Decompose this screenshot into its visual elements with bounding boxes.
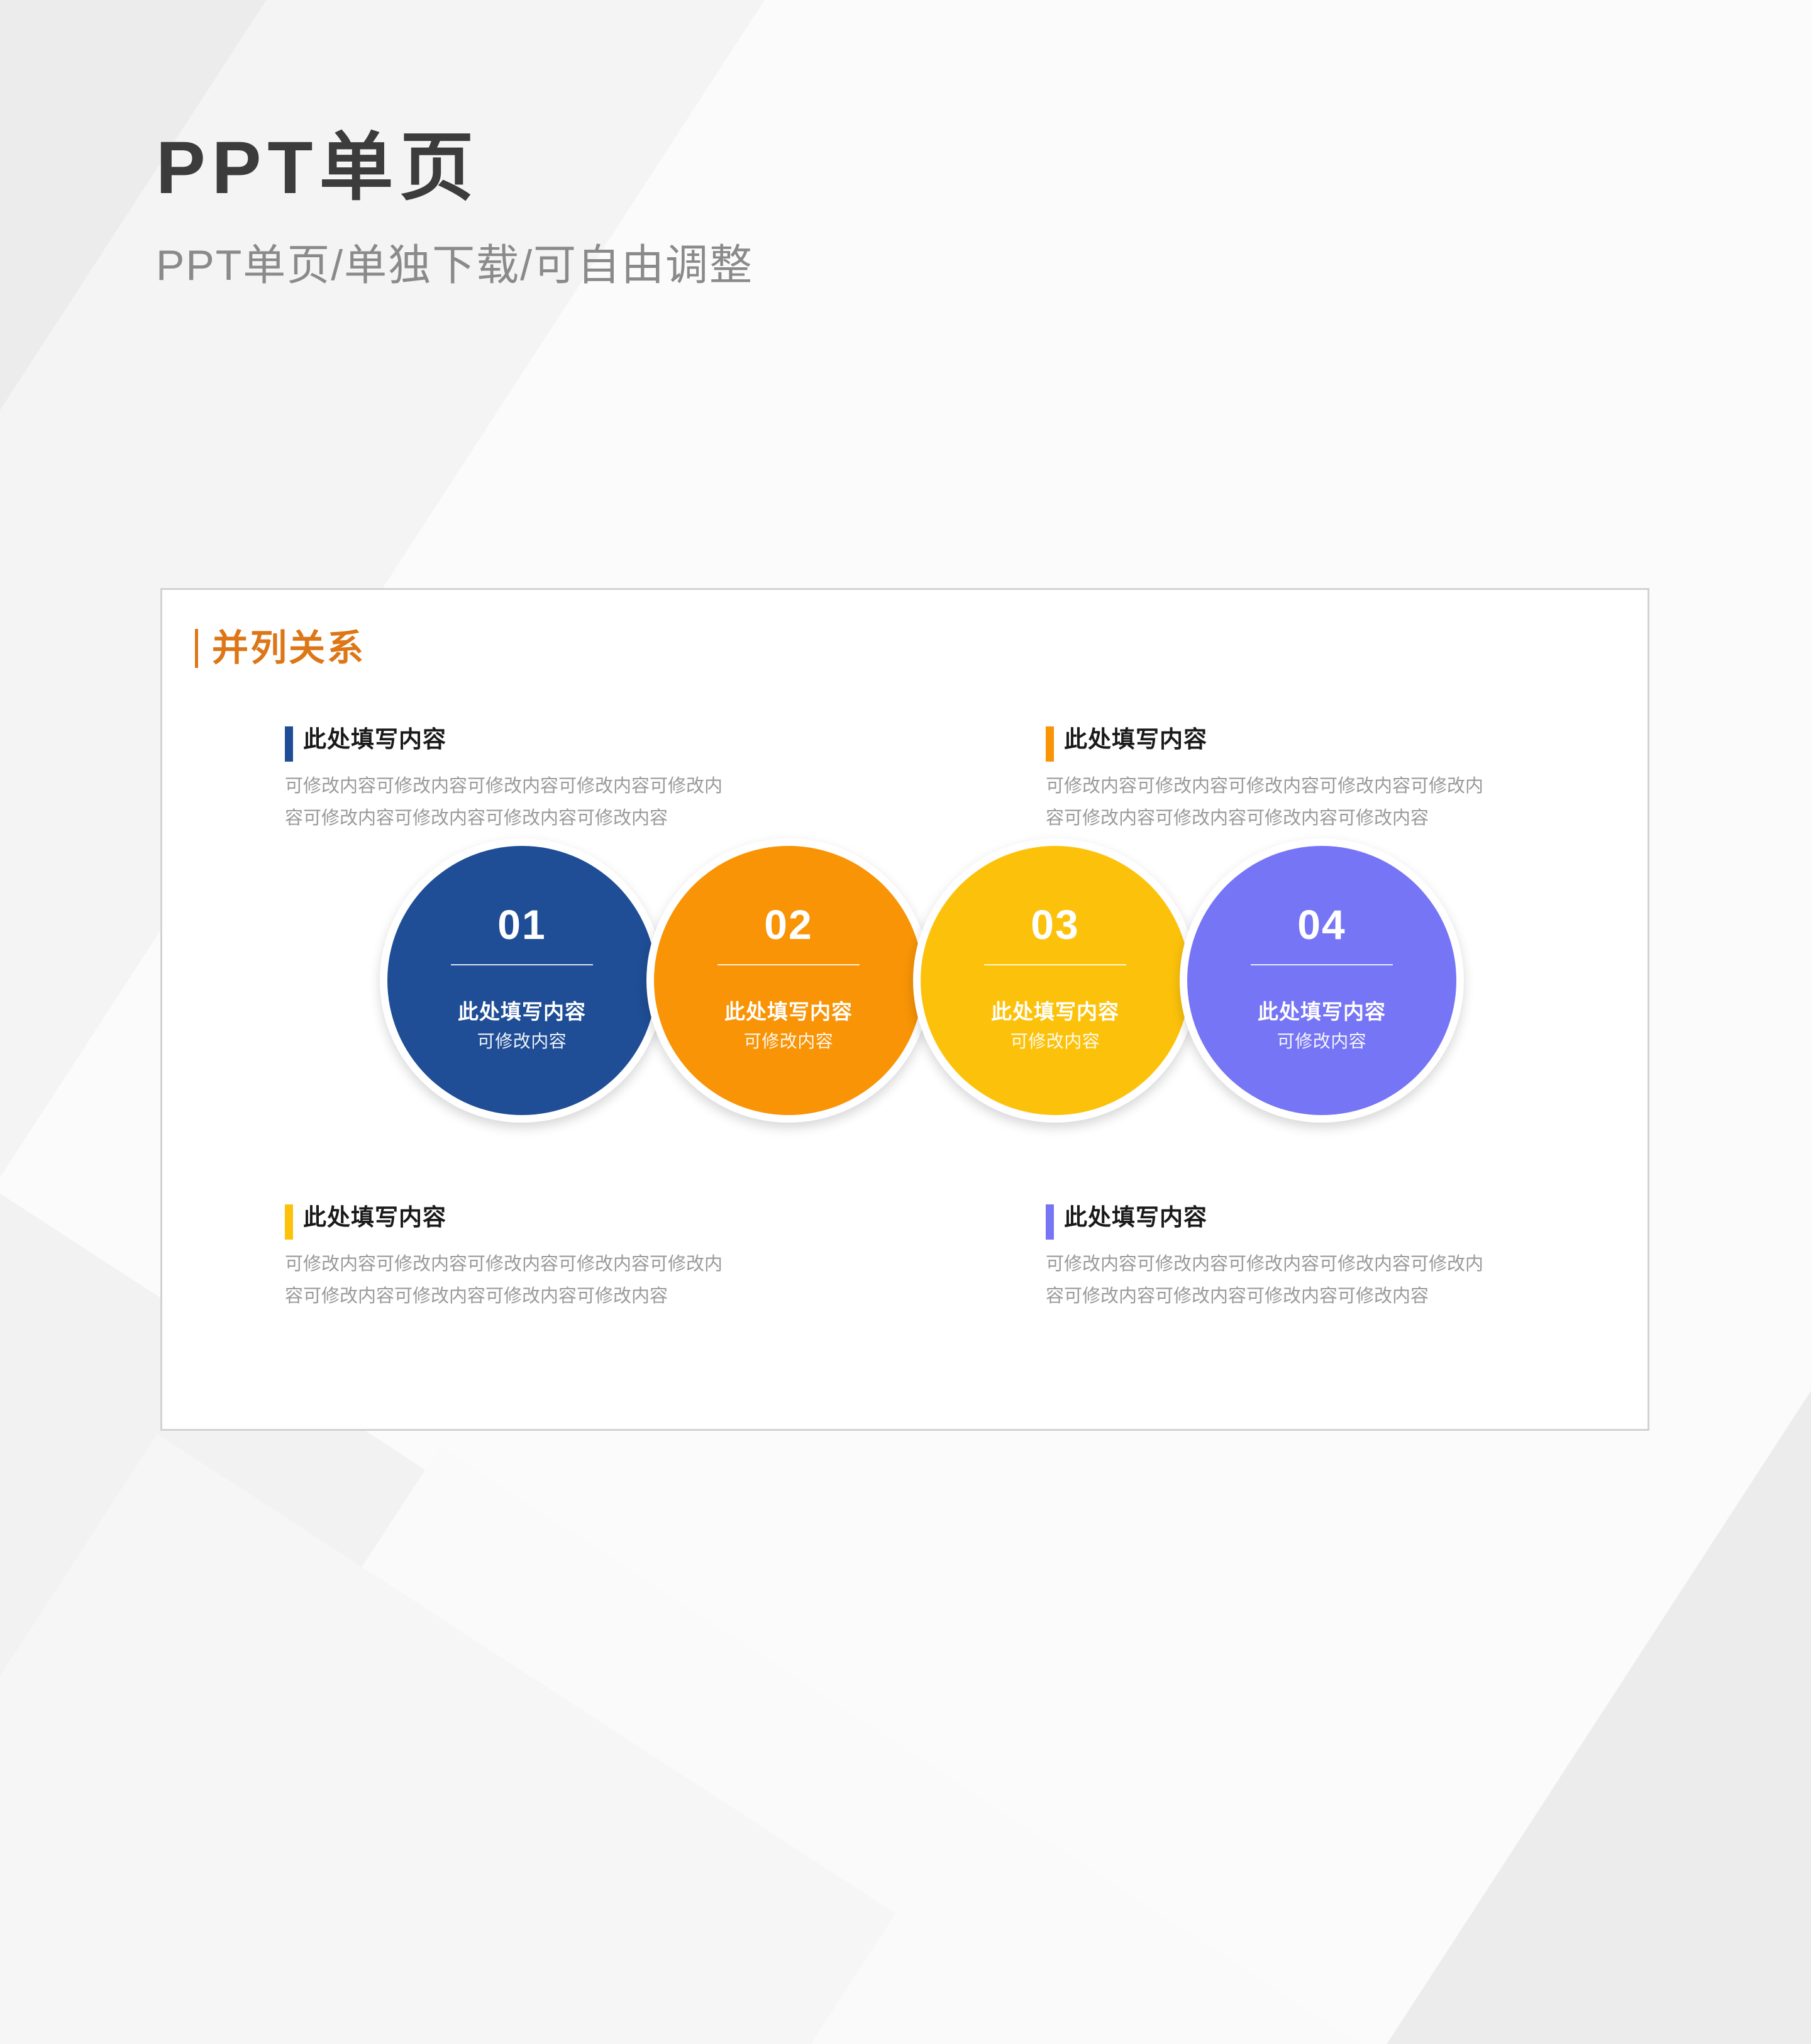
page-title: PPT单页	[156, 126, 753, 211]
slide-heading: 并列关系	[195, 629, 365, 668]
circle-subtitle: 可修改内容	[1011, 1031, 1100, 1052]
callout-top-right: 此处填写内容 可修改内容可修改内容可修改内容可修改内容可修改内容可修改内容可修改…	[1046, 725, 1524, 835]
callout-header: 此处填写内容	[1046, 1203, 1524, 1240]
circle-number: 01	[497, 904, 546, 945]
circle-title: 此处填写内容	[1258, 999, 1386, 1025]
callout-bottom-right: 此处填写内容 可修改内容可修改内容可修改内容可修改内容可修改内容可修改内容可修改…	[1046, 1203, 1524, 1313]
circle-title: 此处填写内容	[724, 999, 853, 1025]
callout-header: 此处填写内容	[1046, 725, 1524, 762]
callout-header: 此处填写内容	[285, 725, 763, 762]
circle-item-02[interactable]: 02 此处填写内容 可修改内容	[646, 838, 931, 1123]
callout-title: 此处填写内容	[1064, 1203, 1207, 1232]
circle-body: 01 此处填写内容 可修改内容	[387, 846, 656, 1115]
circle-subtitle: 可修改内容	[477, 1031, 567, 1052]
circle-item-04[interactable]: 04 此处填写内容 可修改内容	[1180, 838, 1464, 1123]
callout-title: 此处填写内容	[303, 1203, 446, 1232]
circle-body: 04 此处填写内容 可修改内容	[1187, 846, 1456, 1115]
callout-accent-bar	[1046, 1204, 1054, 1240]
circle-body: 02 此处填写内容 可修改内容	[654, 846, 923, 1115]
callout-body: 可修改内容可修改内容可修改内容可修改内容可修改内容可修改内容可修改内容可修改内容…	[285, 1248, 738, 1313]
circle-title: 此处填写内容	[991, 999, 1119, 1025]
circle-subtitle: 可修改内容	[1277, 1031, 1367, 1052]
callout-title: 此处填写内容	[1064, 725, 1207, 754]
circle-row: 01 此处填写内容 可修改内容 02 此处填写内容 可修改内容 03 此处填写内…	[162, 838, 1648, 1153]
callout-accent-bar	[1046, 726, 1054, 762]
circle-title: 此处填写内容	[458, 999, 586, 1025]
callout-body: 可修改内容可修改内容可修改内容可修改内容可修改内容可修改内容可修改内容可修改内容…	[1046, 1248, 1498, 1313]
circle-number: 04	[1297, 904, 1346, 945]
slide-heading-accent-bar	[195, 629, 198, 668]
page-header: PPT单页 PPT单页/单独下载/可自由调整	[156, 126, 753, 292]
circle-number: 03	[1031, 904, 1079, 945]
circle-divider	[451, 964, 593, 965]
callout-body: 可修改内容可修改内容可修改内容可修改内容可修改内容可修改内容可修改内容可修改内容…	[1046, 770, 1498, 835]
callout-bottom-left: 此处填写内容 可修改内容可修改内容可修改内容可修改内容可修改内容可修改内容可修改…	[285, 1203, 763, 1313]
callout-header: 此处填写内容	[285, 1203, 763, 1240]
circle-divider	[1251, 964, 1393, 965]
circle-item-01[interactable]: 01 此处填写内容 可修改内容	[380, 838, 664, 1123]
callout-title: 此处填写内容	[303, 725, 446, 754]
circle-number: 02	[764, 904, 812, 945]
circle-subtitle: 可修改内容	[744, 1031, 834, 1052]
circle-item-03[interactable]: 03 此处填写内容 可修改内容	[913, 838, 1197, 1123]
callout-top-left: 此处填写内容 可修改内容可修改内容可修改内容可修改内容可修改内容可修改内容可修改…	[285, 725, 763, 835]
slide-card: 并列关系 此处填写内容 可修改内容可修改内容可修改内容可修改内容可修改内容可修改…	[160, 588, 1649, 1431]
page-subtitle: PPT单页/单独下载/可自由调整	[156, 230, 753, 292]
circle-body: 03 此处填写内容 可修改内容	[921, 846, 1190, 1115]
slide-heading-label: 并列关系	[212, 630, 365, 667]
callout-body: 可修改内容可修改内容可修改内容可修改内容可修改内容可修改内容可修改内容可修改内容…	[285, 770, 738, 835]
callout-accent-bar	[285, 1204, 293, 1240]
callout-accent-bar	[285, 726, 293, 762]
circle-divider	[717, 964, 860, 965]
circle-divider	[984, 964, 1126, 965]
